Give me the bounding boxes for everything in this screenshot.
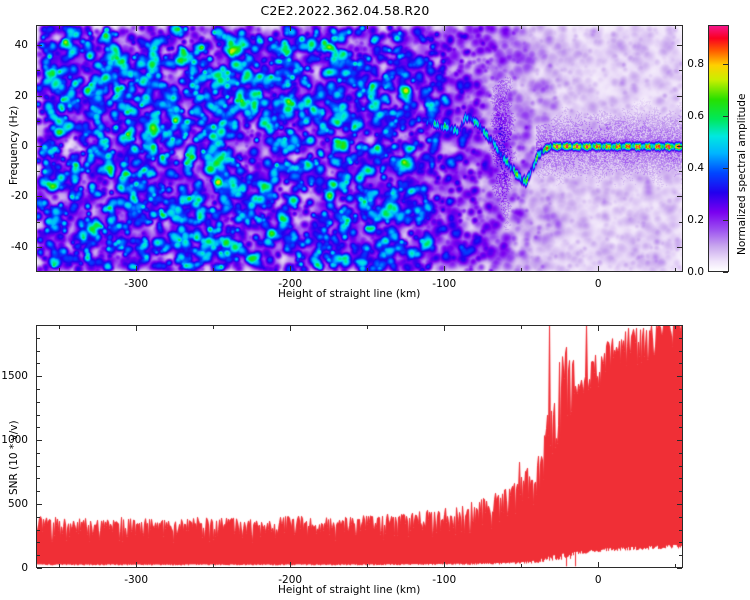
snr-ytick-minor-right — [679, 351, 682, 352]
snr-xtick-minor-top — [367, 326, 368, 329]
snr-ytick-minor — [37, 478, 40, 479]
snr-ytick-minor-right — [679, 542, 682, 543]
colorbar-ticklabel: 0.2 — [678, 214, 704, 226]
spectrogram-xtick-minor — [675, 268, 676, 271]
snr-xtick-minor — [521, 564, 522, 567]
spectrogram-ytick-major-right — [677, 146, 682, 147]
spectrogram-xtick-minor — [213, 268, 214, 271]
snr-ytick-minor — [37, 517, 40, 518]
snr-ytick-minor-right — [679, 517, 682, 518]
spectrogram-ytick-minor-right — [679, 70, 682, 71]
colorbar-tick — [723, 220, 728, 221]
snr-ytick-minor-right — [679, 415, 682, 416]
snr-xtick-minor — [675, 564, 676, 567]
snr-xtick-minor — [213, 564, 214, 567]
snr-ytick-major-right — [677, 504, 682, 505]
spectrogram-yticklabel: 40 — [0, 39, 28, 51]
spectrogram-xtick-major-top — [444, 26, 445, 31]
snr-xtick-minor — [367, 564, 368, 567]
snr-xticklabel: 0 — [595, 574, 602, 586]
spectrogram-xtick-major-top — [598, 26, 599, 31]
spectrogram-ytick-major — [37, 45, 42, 46]
spectrogram-ytick-major — [37, 96, 42, 97]
colorbar — [708, 25, 729, 272]
snr-plot-area — [36, 325, 683, 568]
snr-ytick-major — [37, 440, 42, 441]
spectrogram-xtick-major — [290, 266, 291, 271]
snr-ytick-major-right — [677, 376, 682, 377]
snr-ytick-minor — [37, 427, 40, 428]
spectrogram-xtick-major — [444, 266, 445, 271]
snr-xtick-major — [598, 562, 599, 567]
snr-yticklabel: 1500 — [0, 370, 28, 382]
snr-xtick-minor-top — [521, 326, 522, 329]
snr-ytick-minor-right — [679, 530, 682, 531]
spectrogram-ytick-minor — [37, 222, 40, 223]
colorbar-tick — [723, 116, 728, 117]
snr-ytick-major — [37, 568, 42, 569]
spectrogram-ytick-major-right — [677, 247, 682, 248]
spectrogram-xtick-minor — [367, 268, 368, 271]
spectrogram-ytick-major-right — [677, 45, 682, 46]
snr-ytick-minor-right — [679, 555, 682, 556]
spectrogram-yticklabel: -20 — [0, 190, 28, 202]
snr-ytick-minor — [37, 338, 40, 339]
snr-ytick-minor-right — [679, 491, 682, 492]
snr-xtick-minor-top — [675, 326, 676, 329]
snr-yticklabel: 0 — [0, 562, 28, 574]
snr-xtick-major-top — [290, 326, 291, 331]
figure-root: C2E2.2022.362.04.58.R20 Frequency (Hz) H… — [0, 0, 750, 600]
snr-xtick-major — [290, 562, 291, 567]
spectrogram-xtick-major — [598, 266, 599, 271]
snr-ytick-minor — [37, 402, 40, 403]
snr-xtick-major-top — [598, 326, 599, 331]
spectrogram-xtick-minor-top — [675, 26, 676, 29]
spectrogram-image — [37, 26, 682, 271]
snr-yticklabel: 1000 — [0, 434, 28, 446]
colorbar-ticklabel: 0.0 — [678, 266, 704, 278]
spectrogram-xticklabel: -300 — [124, 278, 148, 290]
page-title: C2E2.2022.362.04.58.R20 — [0, 3, 690, 18]
snr-ytick-minor-right — [679, 402, 682, 403]
spectrogram-ytick-major-right — [677, 196, 682, 197]
spectrogram-xtick-major — [136, 266, 137, 271]
snr-xtick-minor-top — [213, 326, 214, 329]
spectrogram-ytick-major — [37, 196, 42, 197]
spectrogram-xtick-major-top — [136, 26, 137, 31]
colorbar-ticklabel: 0.8 — [678, 58, 704, 70]
snr-ytick-minor — [37, 491, 40, 492]
snr-ytick-minor — [37, 466, 40, 467]
snr-ytick-minor — [37, 555, 40, 556]
spectrogram-xticklabel: 0 — [595, 278, 602, 290]
spectrogram-xtick-minor-top — [521, 26, 522, 29]
colorbar-gradient — [709, 26, 728, 271]
snr-yticklabel: 500 — [0, 498, 28, 510]
colorbar-ticklabel: 0.6 — [678, 110, 704, 122]
snr-xticklabel: -100 — [432, 574, 456, 586]
spectrogram-xticklabel: -100 — [432, 278, 456, 290]
snr-ytick-minor-right — [679, 478, 682, 479]
snr-xtick-major-top — [136, 326, 137, 331]
spectrogram-ytick-minor — [37, 171, 40, 172]
snr-ytick-minor — [37, 389, 40, 390]
snr-ytick-minor — [37, 542, 40, 543]
colorbar-tick — [723, 272, 728, 273]
spectrogram-xticklabel: -200 — [278, 278, 302, 290]
snr-ytick-minor — [37, 530, 40, 531]
spectrogram-ytick-minor — [37, 70, 40, 71]
snr-ytick-major — [37, 376, 42, 377]
snr-ytick-minor — [37, 453, 40, 454]
spectrogram-ytick-minor — [37, 121, 40, 122]
snr-y-axis-label: SNR (10 * v/v) — [8, 420, 20, 495]
spectrogram-ytick-major — [37, 146, 42, 147]
snr-ytick-minor-right — [679, 338, 682, 339]
spectrogram-xtick-minor — [59, 268, 60, 271]
spectrogram-yticklabel: -40 — [0, 241, 28, 253]
snr-ytick-minor-right — [679, 453, 682, 454]
spectrogram-yticklabel: 20 — [0, 90, 28, 102]
snr-xtick-minor — [59, 564, 60, 567]
snr-xticklabel: -300 — [124, 574, 148, 586]
spectrogram-xtick-minor-top — [367, 26, 368, 29]
snr-ytick-major — [37, 504, 42, 505]
snr-ytick-minor-right — [679, 363, 682, 364]
snr-ytick-minor — [37, 351, 40, 352]
snr-ytick-major-right — [677, 568, 682, 569]
colorbar-ticklabel: 0.4 — [678, 162, 704, 174]
colorbar-label: Normalized spectral amplitude — [736, 94, 748, 255]
snr-xtick-major-top — [444, 326, 445, 331]
spectrogram-yticklabel: 0 — [0, 140, 28, 152]
spectrogram-plot-area — [36, 25, 683, 272]
colorbar-tick — [723, 168, 728, 169]
snr-xtick-major — [444, 562, 445, 567]
spectrogram-xtick-minor-top — [59, 26, 60, 29]
snr-xticklabel: -200 — [278, 574, 302, 586]
spectrogram-xtick-major-top — [290, 26, 291, 31]
colorbar-tick — [723, 64, 728, 65]
spectrogram-ytick-major — [37, 247, 42, 248]
snr-ytick-major-right — [677, 440, 682, 441]
spectrogram-xtick-minor-top — [213, 26, 214, 29]
snr-line-series — [37, 326, 682, 567]
snr-ytick-minor — [37, 363, 40, 364]
snr-ytick-minor-right — [679, 427, 682, 428]
snr-ytick-minor — [37, 415, 40, 416]
spectrogram-xtick-minor — [521, 268, 522, 271]
spectrogram-ytick-major-right — [677, 96, 682, 97]
snr-xtick-minor-top — [59, 326, 60, 329]
snr-ytick-minor-right — [679, 466, 682, 467]
snr-xtick-major — [136, 562, 137, 567]
snr-ytick-minor-right — [679, 389, 682, 390]
